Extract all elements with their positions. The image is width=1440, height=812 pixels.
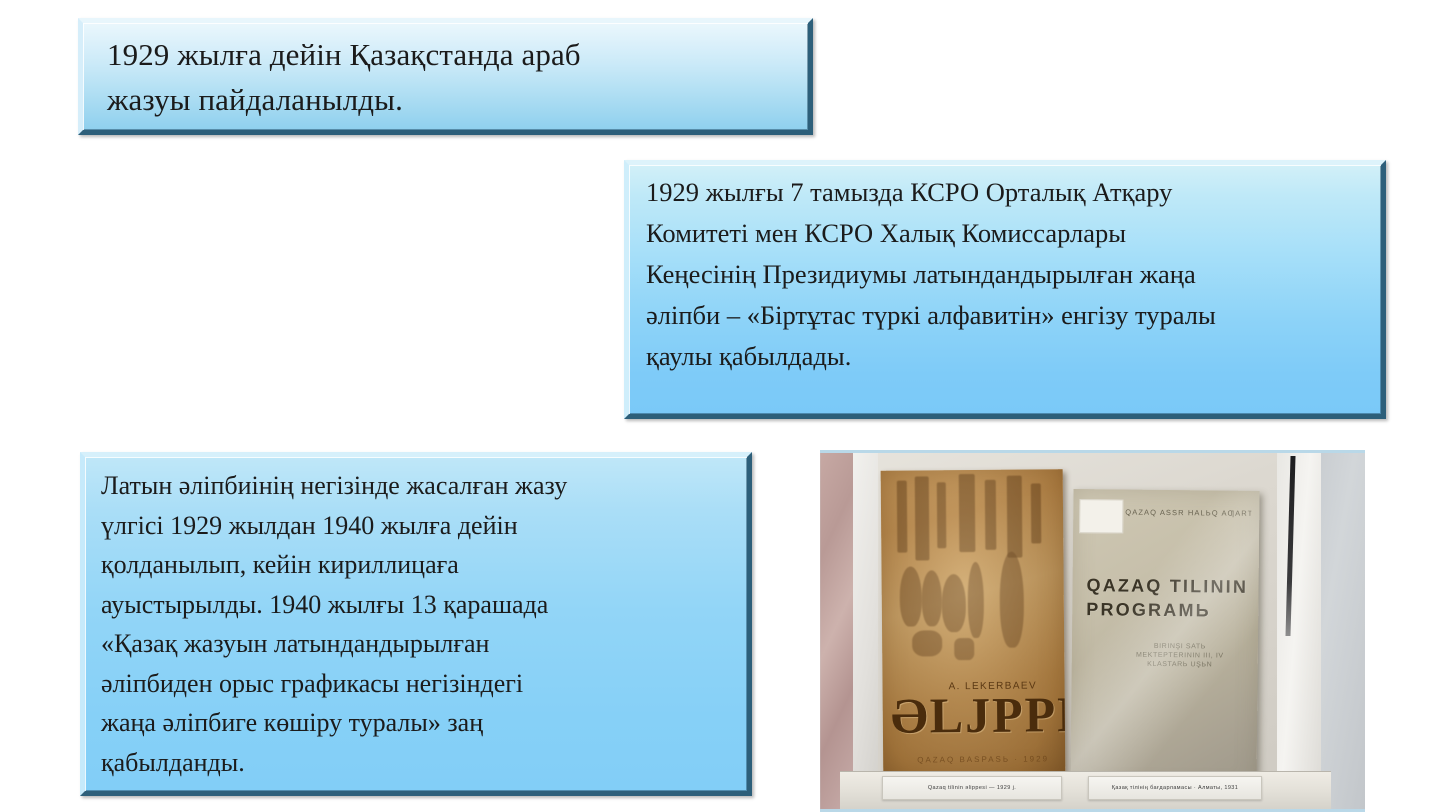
book-alippe-primer: A. LEKERBAEV ƏLJPPE QAZAQ BASPASЬ · 1929 [881, 469, 1066, 777]
photo-edge-trim-top [820, 450, 1365, 453]
callout-latin-alphabet: Латын әліпбиінің негізінде жасалған жазу… [80, 452, 752, 796]
callout-heading: 1929 жылға дейін Қазақстанда араб жазуы … [78, 18, 813, 135]
museum-caption-card-right: Қазақ тілінің бағдарламасы · Алматы, 193… [1088, 776, 1262, 800]
callout-decree-text: 1929 жылғы 7 тамызда КСРО Орталық Атқару… [629, 165, 1381, 377]
photo-background-wall-left [820, 450, 856, 812]
book-left-imprint: QAZAQ BASPASЬ · 1929 [917, 754, 1049, 764]
museum-display-photo: A. LEKERBAEV ƏLJPPE QAZAQ BASPASЬ · 1929… [820, 450, 1365, 812]
callout-decree: 1929 жылғы 7 тамызда КСРО Орталық Атқару… [624, 160, 1386, 419]
photo-glass-reflection [1070, 489, 1259, 791]
callout-heading-text: 1929 жылға дейін Қазақстанда араб жазуы … [83, 23, 808, 122]
display-case-post-right [1277, 450, 1321, 812]
callout-latin-alphabet-text: Латын әліпбиінің негізінде жасалған жазу… [85, 457, 747, 782]
book-qazaq-tilinin-programy: QAZAQ ASSR HALЬQ AƢARTU KOMISSARIATЬ QAZ… [1070, 489, 1259, 791]
book-left-title: ƏLJPPE [891, 689, 1066, 741]
photo-scene: A. LEKERBAEV ƏLJPPE QAZAQ BASPASЬ · 1929… [820, 450, 1365, 812]
museum-caption-card-left: Qazaq tilinin əlippesi — 1929 j. [882, 776, 1062, 800]
